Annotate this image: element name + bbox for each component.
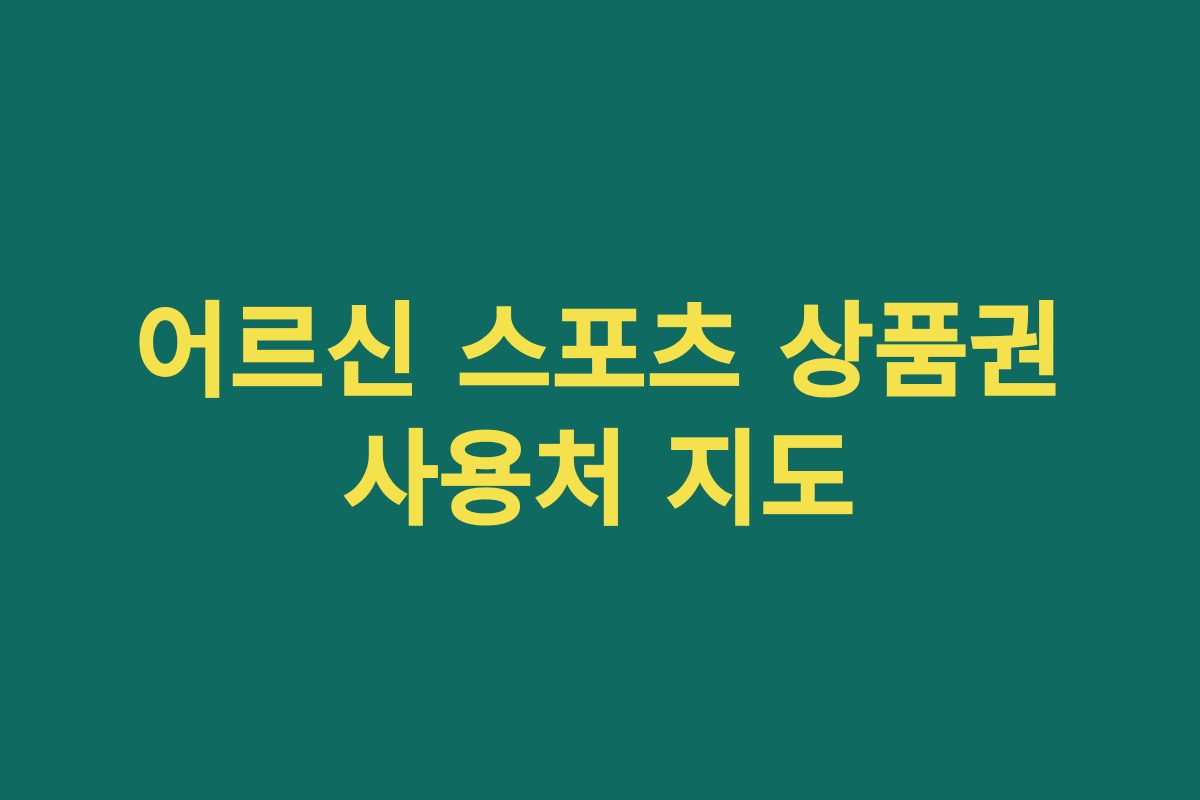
- title-block: 어르신 스포츠 상품권 사용처 지도: [0, 302, 1200, 532]
- title-line-secondary: 사용처 지도: [40, 430, 1160, 532]
- title-line-primary: 어르신 스포츠 상품권: [40, 302, 1160, 404]
- poster-canvas: 어르신 스포츠 상품권 사용처 지도: [0, 0, 1200, 800]
